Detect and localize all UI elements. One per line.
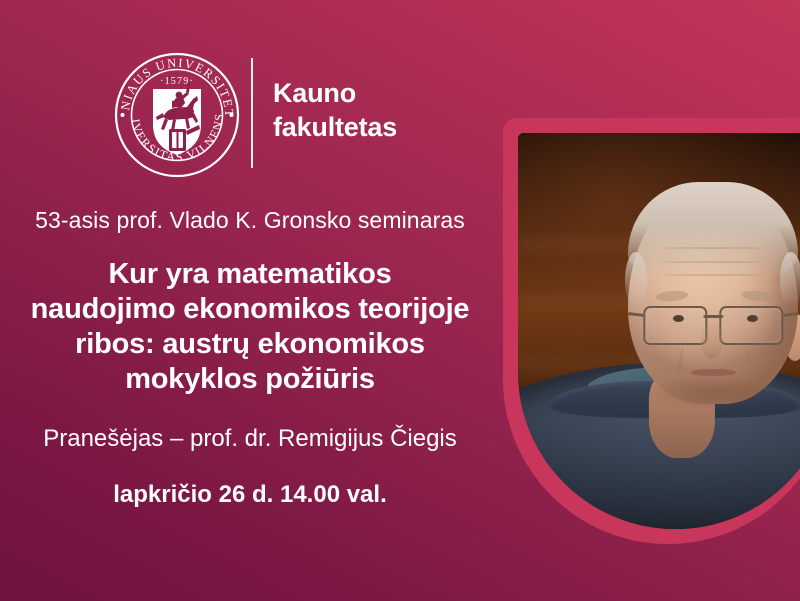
seminar-announcement-poster: VILNIAUS UNIVERSITETAS UNIVERSITAS VILNE… xyxy=(0,0,800,601)
portrait-forehead-line xyxy=(664,247,763,249)
talk-title: Kur yra matematikos naudojimo ekonomikos… xyxy=(0,257,500,397)
poster-text-block: 53-asis prof. Vlado K. Gronsko seminaras… xyxy=(0,205,500,511)
glasses-arm-right xyxy=(783,312,798,316)
faculty-line-1: Kauno xyxy=(273,76,397,110)
portrait-hair-temple-right xyxy=(780,252,800,309)
speaker-portrait-photo xyxy=(518,133,800,529)
talk-title-line-4: mokyklos požiūris xyxy=(125,363,375,395)
portrait-jaw-shadow xyxy=(652,374,774,409)
glasses-lens-right xyxy=(719,306,783,345)
event-datetime: lapkričio 26 d. 14.00 val. xyxy=(0,479,500,511)
portrait-hair-temple-left xyxy=(625,252,647,309)
talk-title-line-1: Kur yra matematikos xyxy=(108,258,391,290)
seminar-series-label: 53-asis prof. Vlado K. Gronsko seminaras xyxy=(0,205,500,235)
vertical-divider xyxy=(251,58,253,168)
glasses-lens-left xyxy=(643,306,707,345)
portrait-hair xyxy=(628,182,798,282)
portrait-eyebrow-right xyxy=(742,290,775,303)
portrait-cheek-line-right xyxy=(745,348,753,376)
talk-title-line-2: naudojimo ekonomikos teorijoje xyxy=(31,293,470,325)
portrait-eyebrow-left xyxy=(655,290,688,303)
portrait-nose xyxy=(701,321,723,358)
glasses-arm-left xyxy=(628,312,643,316)
portrait-frame xyxy=(503,118,800,544)
portrait-cheek-line-left xyxy=(677,348,685,376)
vu-seal-vytis-knight-icon: VILNIAUS UNIVERSITETAS UNIVERSITAS VILNE… xyxy=(113,51,241,179)
speaker-name: Pranešėjas – prof. dr. Remigijus Čiegis xyxy=(0,423,500,455)
faculty-wordmark: Kauno fakultetas xyxy=(273,76,397,144)
glasses-bridge xyxy=(704,315,724,318)
portrait-head xyxy=(628,186,798,404)
faculty-line-2: fakultetas xyxy=(273,110,397,144)
talk-title-line-3: ribos: austrų ekonomikos xyxy=(75,328,425,360)
portrait-image xyxy=(518,133,800,529)
